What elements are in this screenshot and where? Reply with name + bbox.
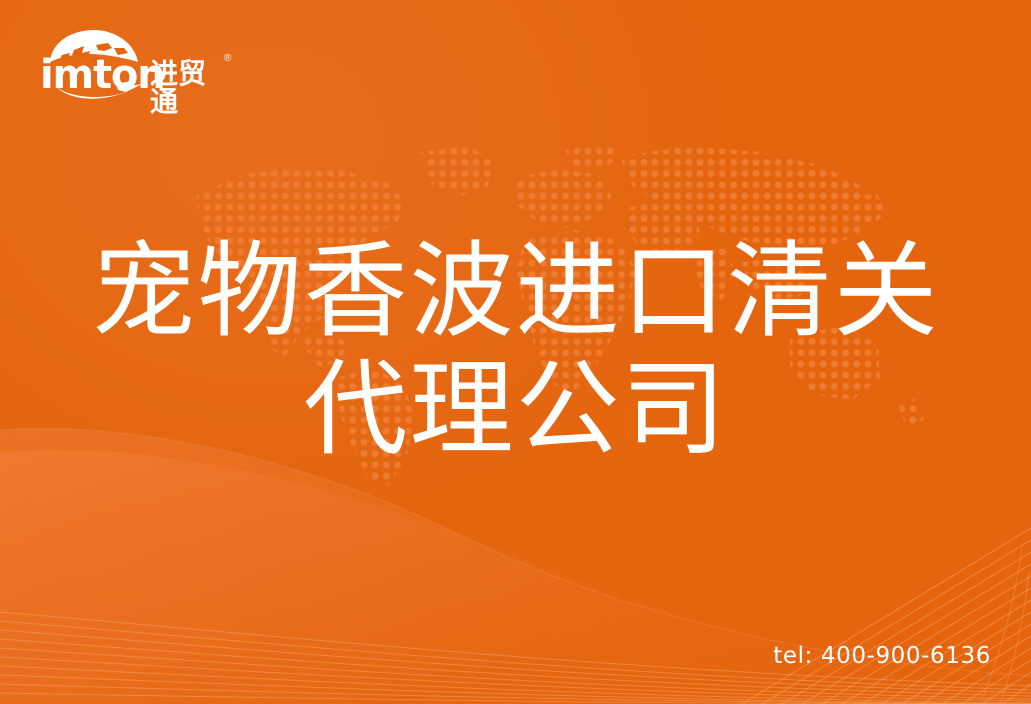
logo-chinese-name: 进贸通 [150,60,218,116]
contact-phone[interactable]: tel: 400-900-6136 [773,643,991,669]
registered-trademark-icon: ® [224,54,231,64]
promotional-banner: imton 进贸通 ® 宠物香波进口清关 代理公司 tel: 400-900-6… [0,0,1031,704]
logo-wordmark: imton [40,55,164,95]
headline-line-2: 代理公司 [0,351,1031,469]
page-title: 宠物香波进口清关 代理公司 [0,233,1031,469]
brand-logo[interactable]: imton 进贸通 ® [38,28,218,100]
headline-line-1: 宠物香波进口清关 [0,233,1031,351]
